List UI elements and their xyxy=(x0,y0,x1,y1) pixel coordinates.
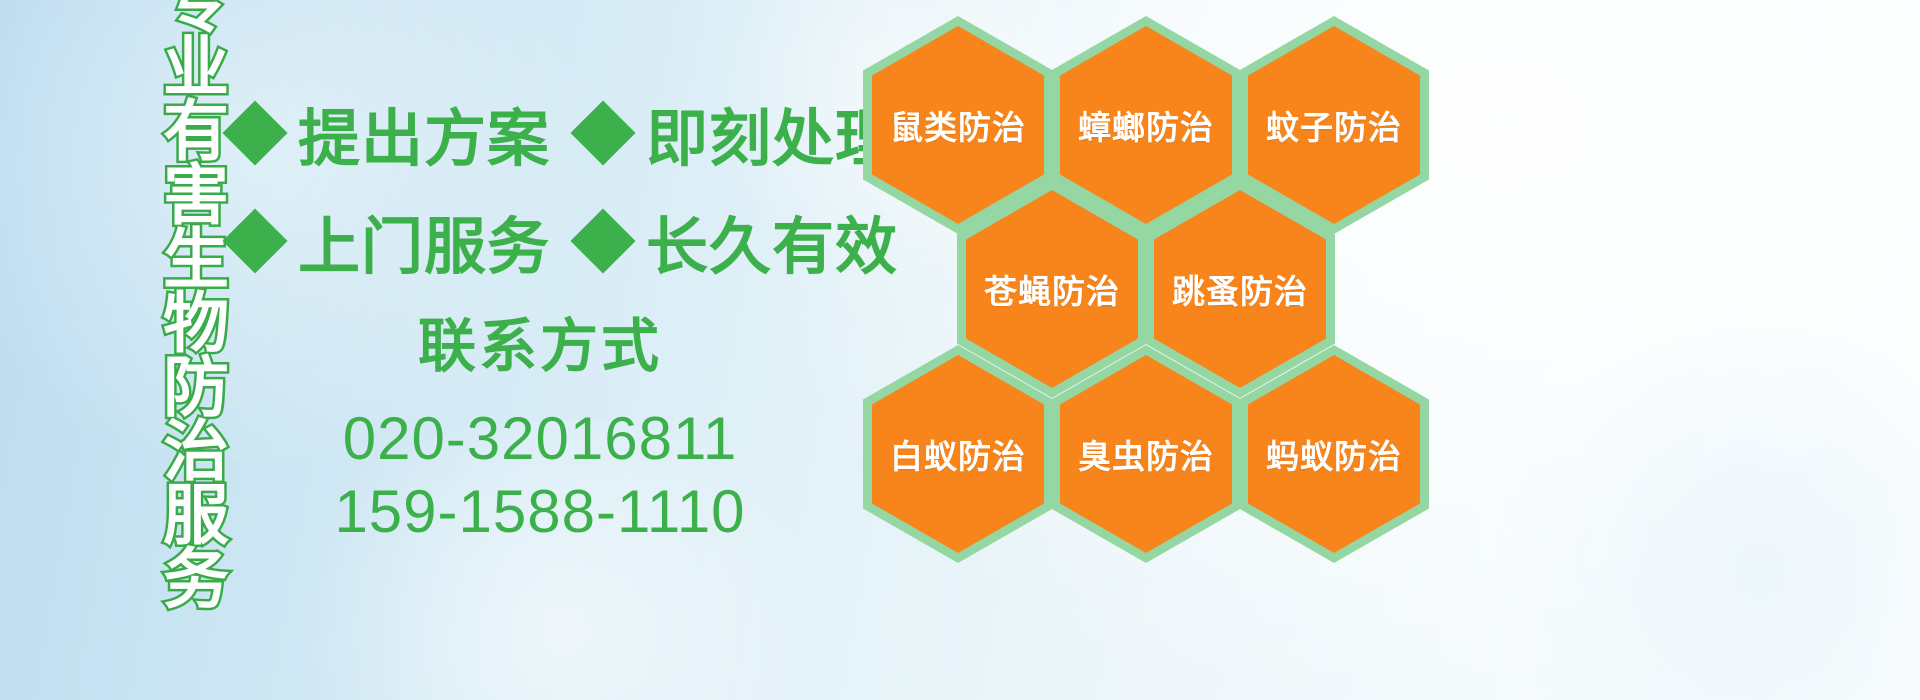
promo-banner: 专业有害生物防治服务 提出方案 即刻处理 上门服务 长久有效 联系方式 020-… xyxy=(0,0,1920,700)
service-hex-termite[interactable]: 白蚁防治 xyxy=(863,345,1053,563)
service-label: 苍蝇防治 xyxy=(984,265,1120,313)
diamond-bullet-icon xyxy=(570,100,635,165)
service-label: 蚊子防治 xyxy=(1266,101,1402,149)
diamond-bullet-icon xyxy=(222,208,287,273)
service-label: 蟑螂防治 xyxy=(1078,101,1214,149)
feature-label-1: 提出方案 xyxy=(298,88,550,178)
service-hex-bedbug[interactable]: 臭虫防治 xyxy=(1051,345,1241,563)
contact-block: 联系方式 020-32016811 159-1588-1110 xyxy=(250,318,830,548)
background-glow xyxy=(1480,330,1920,700)
service-label: 鼠类防治 xyxy=(890,101,1026,149)
service-label: 白蚁防治 xyxy=(890,430,1026,478)
service-hex-ant[interactable]: 蚂蚁防治 xyxy=(1239,345,1429,563)
phone-landline[interactable]: 020-32016811 xyxy=(250,402,830,475)
service-label: 蚂蚁防治 xyxy=(1266,430,1402,478)
vertical-headline: 专业有害生物防治服务 xyxy=(104,8,224,568)
feature-row-2: 上门服务 长久有效 xyxy=(232,196,898,286)
feature-row-1: 提出方案 即刻处理 xyxy=(232,88,898,178)
phone-mobile[interactable]: 159-1588-1110 xyxy=(250,475,830,548)
service-honeycomb: 鼠类防治 蟑螂防治 蚊子防治 苍蝇防治 跳蚤防治 白蚁防治 xyxy=(855,0,1475,700)
diamond-bullet-icon xyxy=(570,208,635,273)
contact-title: 联系方式 xyxy=(250,318,830,376)
diamond-bullet-icon xyxy=(222,100,287,165)
feature-label-3: 上门服务 xyxy=(298,196,550,286)
service-label: 臭虫防治 xyxy=(1078,430,1214,478)
service-label: 跳蚤防治 xyxy=(1172,265,1308,313)
